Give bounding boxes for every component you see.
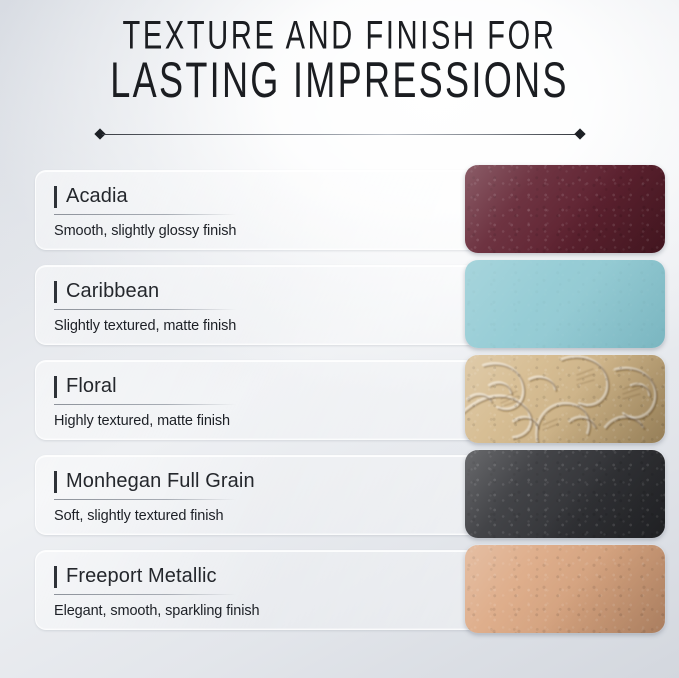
header: TEXTURE AND FINISH FOR LASTING IMPRESSIO… (0, 18, 679, 101)
swatch-color-tile[interactable] (465, 545, 665, 633)
swatch-color-tile[interactable] (465, 450, 665, 538)
name-underline (54, 404, 236, 405)
swatch-name: Freeport Metallic (66, 565, 217, 588)
title-divider-ornament (96, 128, 584, 140)
diamond-right-icon (574, 128, 585, 139)
list-item[interactable]: Acadia Smooth, slightly glossy finish (0, 162, 679, 257)
accent-bar-icon (54, 471, 57, 493)
list-item[interactable]: Freeport Metallic Elegant, smooth, spark… (0, 542, 679, 637)
swatch-name: Floral (66, 375, 117, 398)
swatch-description: Soft, slightly textured finish (54, 508, 384, 524)
swatch-description: Smooth, slightly glossy finish (54, 223, 384, 239)
swatch-color-tile[interactable] (465, 260, 665, 348)
name-underline (54, 499, 236, 500)
accent-bar-icon (54, 376, 57, 398)
swatch-name: Acadia (66, 185, 128, 208)
page-title-line-2: LASTING IMPRESSIONS (41, 55, 639, 106)
accent-bar-icon (54, 566, 57, 588)
swatch-description: Elegant, smooth, sparkling finish (54, 603, 384, 619)
divider-rule (102, 134, 578, 135)
name-underline (54, 309, 236, 310)
swatch-sheen-overlay (465, 450, 665, 538)
texture-finish-infographic: TEXTURE AND FINISH FOR LASTING IMPRESSIO… (0, 0, 679, 678)
swatch-list: Acadia Smooth, slightly glossy finish Ca… (0, 162, 679, 637)
list-item[interactable]: Caribbean Slightly textured, matte finis… (0, 257, 679, 352)
list-item[interactable]: Monhegan Full Grain Soft, slightly textu… (0, 447, 679, 542)
swatch-name: Monhegan Full Grain (66, 470, 255, 493)
swatch-color-tile[interactable] (465, 165, 665, 253)
page-title-line-1: TEXTURE AND FINISH FOR (41, 14, 639, 55)
swatch-sheen-overlay (465, 260, 665, 348)
name-underline (54, 214, 236, 215)
swatch-description: Highly textured, matte finish (54, 413, 384, 429)
list-item[interactable]: Floral Highly textured, matte finish (0, 352, 679, 447)
name-underline (54, 594, 236, 595)
swatch-sheen-overlay (465, 165, 665, 253)
swatch-sheen-overlay (465, 545, 665, 633)
accent-bar-icon (54, 186, 57, 208)
swatch-name: Caribbean (66, 280, 159, 303)
accent-bar-icon (54, 281, 57, 303)
swatch-sheen-overlay (465, 355, 665, 443)
swatch-description: Slightly textured, matte finish (54, 318, 384, 334)
swatch-color-tile[interactable] (465, 355, 665, 443)
